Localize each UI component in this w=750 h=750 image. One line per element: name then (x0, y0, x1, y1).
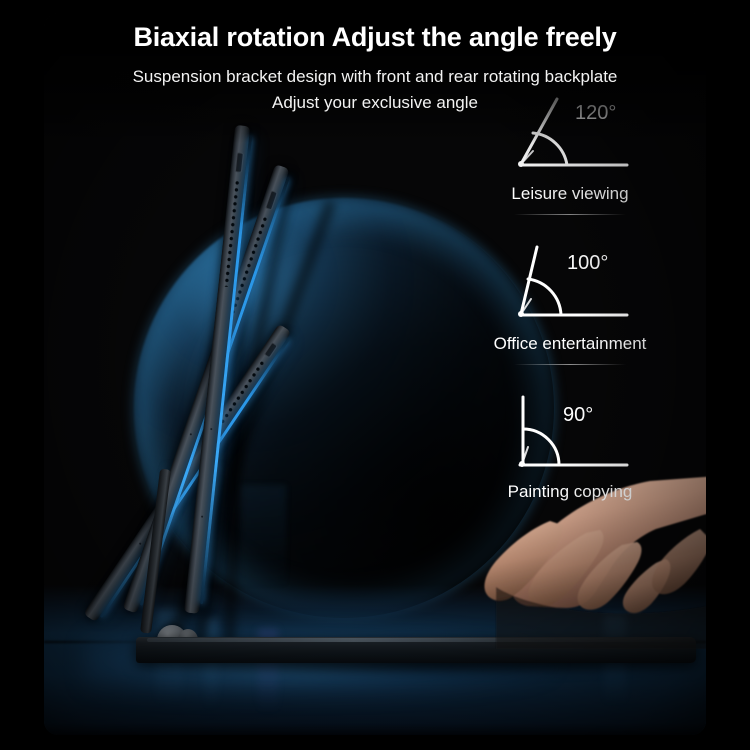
angle-120-caption: Leisure viewing (440, 181, 700, 205)
angle-90-caption: Painting copying (440, 481, 700, 503)
angle-120-icon: 120° (495, 85, 645, 181)
angle-100-icon: 100° (495, 235, 645, 331)
product-feature-image: Biaxial rotation Adjust the angle freely… (0, 0, 750, 750)
angle-100-caption: Office entertainment (440, 331, 700, 355)
angle-120-degree: 120° (575, 102, 616, 124)
angle-120-diagram: 120° (440, 85, 700, 181)
angle-90-degree: 90° (563, 404, 593, 426)
image-card: Biaxial rotation Adjust the angle freely… (44, 13, 706, 735)
angle-90-icon: 90° (495, 385, 645, 481)
angle-120-divider (514, 214, 626, 215)
angle-100-degree: 100° (567, 252, 608, 274)
angle-100-diagram: 100° (440, 235, 700, 331)
angle-100-divider (514, 364, 626, 365)
angle-item-90: 90° Painting copying (440, 385, 700, 503)
angle-90-diagram: 90° (440, 385, 700, 481)
angle-item-100: 100° Office entertainment (440, 235, 700, 365)
angle-list: 120° Leisure viewing (440, 85, 700, 509)
angle-item-120: 120° Leisure viewing (440, 85, 700, 215)
